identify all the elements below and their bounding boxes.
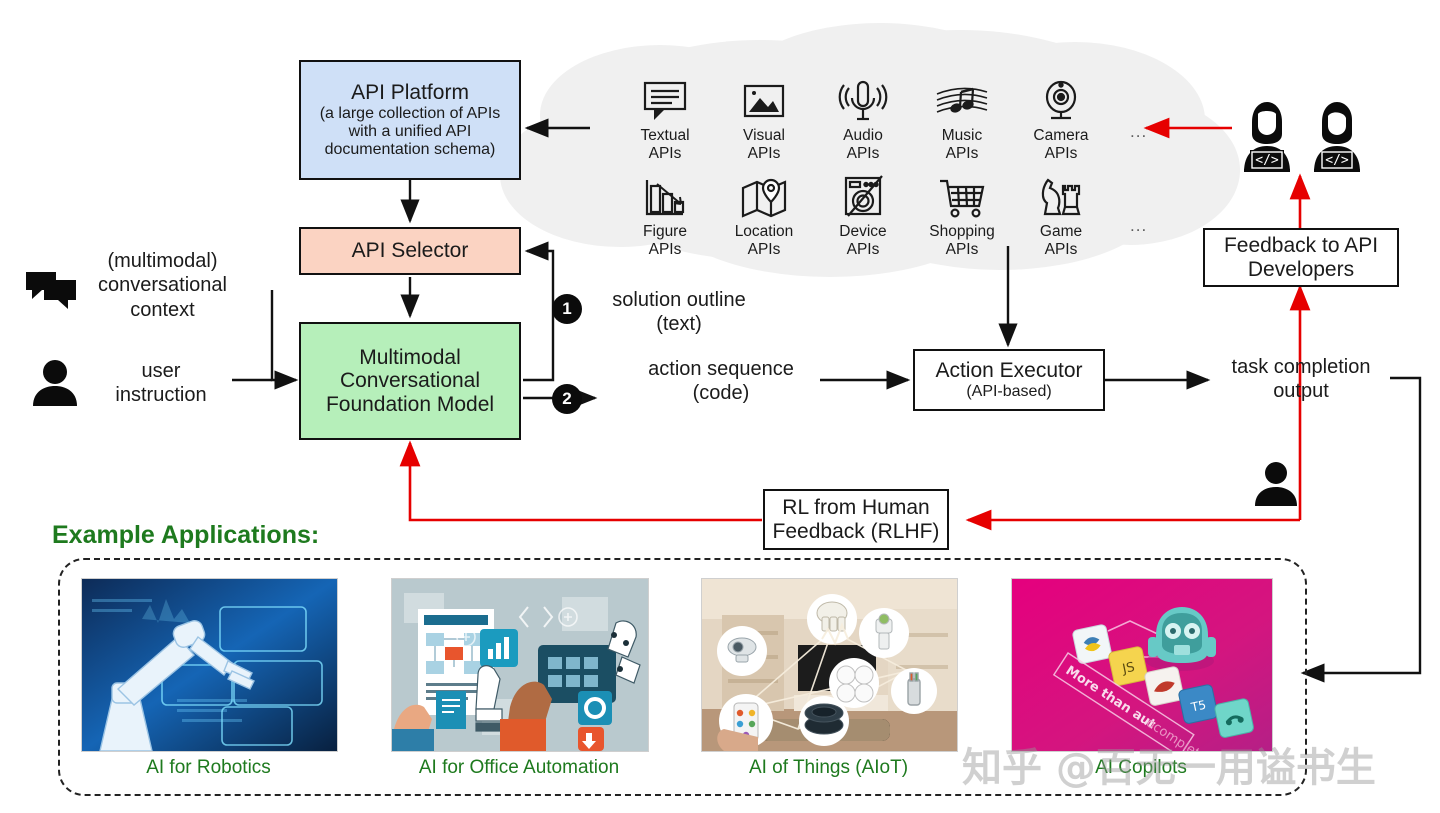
api-platform-sub2: with a unified API <box>349 123 472 141</box>
cloud-api-shopping: ShoppingAPIs <box>914 168 1010 259</box>
person-icon-user <box>30 358 80 411</box>
feedback-line2: Developers <box>1248 258 1354 282</box>
api-platform-box[interactable]: API Platform (a large collection of APIs… <box>299 60 521 180</box>
male-developer-icon: </> <box>1306 100 1368 177</box>
user-line2: instruction <box>86 383 236 407</box>
output-line2: output <box>1208 379 1394 403</box>
bar-chart-icon <box>617 168 713 220</box>
cloud-api-audio: AudioAPIs <box>815 72 911 163</box>
cloud-api-music: MusicAPIs <box>914 72 1010 163</box>
action-executor-box[interactable]: Action Executor (API-based) <box>913 349 1105 411</box>
shopping-cart-icon <box>914 168 1010 220</box>
ctx-line1: (multimodal) <box>80 249 245 273</box>
cloud-api-textual: TextualAPIs <box>617 72 713 163</box>
caption-ai-for-office-automation: AI for Office Automation <box>391 757 647 779</box>
step2-line1: action sequence <box>628 357 814 381</box>
user-line1: user <box>86 359 236 383</box>
ctx-line2: conversational <box>80 273 245 297</box>
thumbnail-ai-copilots[interactable]: JS T5 More than aut oc <box>1011 578 1273 752</box>
diagram-canvas: TextualAPIs VisualAPIs AudioAPIs <box>0 0 1440 813</box>
api-platform-sub1: (a large collection of APIs <box>320 105 501 123</box>
map-pin-icon <box>716 168 812 220</box>
api-platform-sub3: documentation schema) <box>325 141 496 159</box>
person-icon-evaluator <box>1252 460 1300 511</box>
action-sequence-label: action sequence (code) <box>628 357 814 406</box>
action-executor-sub: (API-based) <box>966 383 1051 401</box>
user-instruction-label: user instruction <box>86 359 236 408</box>
cloud-api-visual: VisualAPIs <box>716 72 812 163</box>
cloud-api-figure: FigureAPIs <box>617 168 713 259</box>
step-2-badge: 2 <box>552 384 582 414</box>
step1-line1: solution outline <box>592 288 766 312</box>
rlhf-box[interactable]: RL from Human Feedback (RLHF) <box>763 489 949 550</box>
thumbnail-ai-of-things[interactable] <box>701 578 958 752</box>
cloud-api-camera: CameraAPIs <box>1013 72 1109 163</box>
foundation-model-line3: Foundation Model <box>326 393 494 417</box>
api-selector-box[interactable]: API Selector <box>299 227 521 275</box>
caption-ai-for-robotics: AI for Robotics <box>81 757 336 779</box>
chess-pieces-icon <box>1013 168 1109 220</box>
female-developer-icon: </> <box>1236 100 1298 177</box>
washing-machine-icon <box>815 168 911 220</box>
api-platform-title: API Platform <box>351 81 469 105</box>
cloud-ellipsis-row1: ... <box>1130 122 1147 142</box>
feedback-line1: Feedback to API <box>1224 234 1378 258</box>
cloud-api-game: GameAPIs <box>1013 168 1109 259</box>
thumbnail-ai-for-robotics[interactable] <box>81 578 338 752</box>
ctx-line3: context <box>80 298 245 322</box>
cloud-ellipsis-row2: ... <box>1130 216 1147 236</box>
microphone-icon <box>815 72 911 124</box>
task-completion-output-label: task completion output <box>1208 355 1394 404</box>
svg-text:</>: </> <box>1255 153 1279 168</box>
image-icon <box>716 72 812 124</box>
feedback-to-developers-box[interactable]: Feedback to API Developers <box>1203 228 1399 287</box>
step-1-badge: 1 <box>552 294 582 324</box>
webcam-icon <box>1013 72 1109 124</box>
rlhf-line2: Feedback (RLHF) <box>773 520 940 544</box>
output-line1: task completion <box>1208 355 1394 379</box>
chat-bubbles-icon <box>24 268 80 315</box>
text-bubble-icon <box>617 72 713 124</box>
foundation-model-box[interactable]: Multimodal Conversational Foundation Mod… <box>299 322 521 440</box>
music-notes-icon <box>914 72 1010 124</box>
zhihu-watermark: 知乎 @百无一用谥书生 <box>962 735 1376 793</box>
caption-ai-of-things: AI of Things (AIoT) <box>701 757 956 779</box>
step2-line2: (code) <box>628 381 814 405</box>
rlhf-line1: RL from Human <box>782 496 929 520</box>
solution-outline-label: solution outline (text) <box>592 288 766 337</box>
api-selector-title: API Selector <box>352 239 469 263</box>
step1-line2: (text) <box>592 312 766 336</box>
action-executor-title: Action Executor <box>935 359 1082 383</box>
thumbnail-ai-for-office-automation[interactable] <box>391 578 649 752</box>
foundation-model-line1: Multimodal <box>359 346 461 370</box>
foundation-model-line2: Conversational <box>340 369 480 393</box>
conversational-context-label: (multimodal) conversational context <box>80 249 245 322</box>
svg-text:</>: </> <box>1325 153 1349 168</box>
cloud-api-device: DeviceAPIs <box>815 168 911 259</box>
example-applications-heading: Example Applications: <box>52 521 319 550</box>
cloud-api-location: LocationAPIs <box>716 168 812 259</box>
